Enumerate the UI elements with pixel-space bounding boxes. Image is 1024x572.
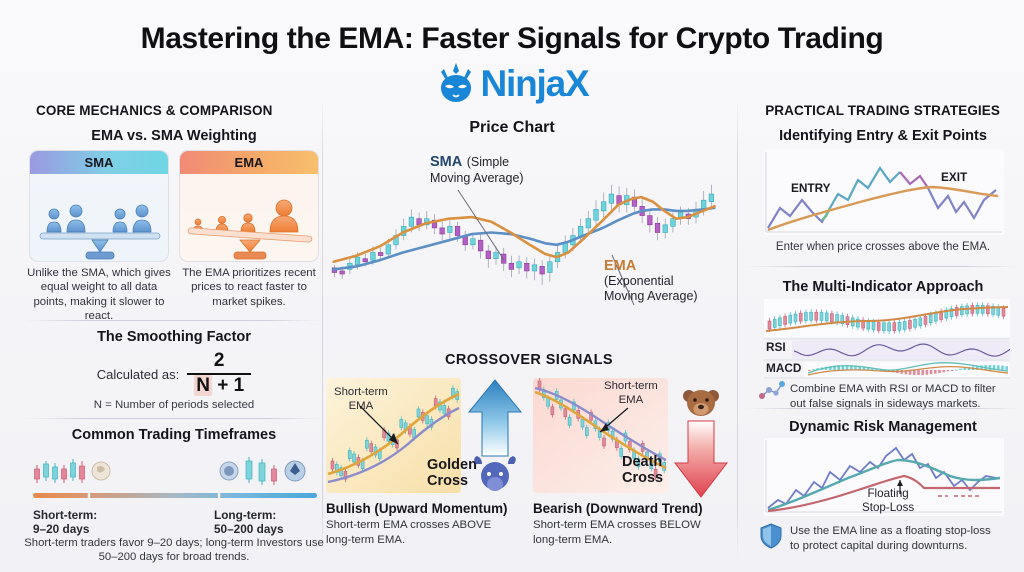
- short-term-candles: [35, 459, 85, 483]
- denominator-rest: + 1: [217, 375, 244, 396]
- sma-card-label: SMA: [30, 151, 168, 174]
- shield-icon: [760, 523, 782, 549]
- risk-title: Dynamic Risk Management: [748, 419, 1018, 435]
- sma-balance-scale-illustration: [30, 174, 169, 262]
- smoothing-formula: Calculated as: 2 N + 1: [29, 351, 319, 397]
- timeframes-section-title: Common Trading Timeframes: [29, 427, 319, 443]
- right-column-heading: PRACTICAL TRADING STRATEGIES: [765, 103, 1000, 118]
- macd-label: MACD: [766, 361, 801, 375]
- fraction: 2 N + 1: [187, 351, 251, 397]
- bearish-body-l2: long-term EMA.: [533, 534, 612, 546]
- timeframe-gradient-bar: [33, 493, 317, 498]
- short-term-title: Short-term:: [33, 508, 97, 522]
- golden-badge-l2: Cross: [427, 473, 468, 489]
- short-term-label: Short-term: 9–20 days: [33, 508, 97, 537]
- bearish-short-ema-label: Short-term EMA: [604, 380, 658, 407]
- arrow-up-icon: [466, 378, 524, 496]
- risk-cap-l2: to protect capital during downturns.: [790, 540, 967, 552]
- candlestick-series: [332, 185, 714, 285]
- timeframes-illustration: [31, 449, 319, 505]
- short-term-value: 9–20 days: [33, 522, 89, 536]
- rsi-label: RSI: [766, 340, 786, 354]
- eth-coin-icon: [285, 461, 305, 481]
- smoothing-note: N = Number of periods selected: [29, 398, 319, 412]
- ema-card-label: EMA: [180, 151, 318, 174]
- column-divider-left: [322, 98, 323, 560]
- bullish-body-l1: Short-term EMA crosses ABOVE: [326, 519, 491, 531]
- denominator-n: N: [194, 375, 212, 396]
- bullish-body-l2: long-term EMA.: [326, 534, 405, 546]
- formula-prefix: Calculated as:: [97, 367, 179, 382]
- risk-cap-l1: Use the EMA line as a floating stop-loss: [790, 525, 991, 537]
- crossover-section-title: CROSSOVER SIGNALS: [326, 352, 732, 368]
- smoothing-section-title: The Smoothing Factor: [29, 329, 319, 345]
- long-term-title: Long-term:: [214, 508, 276, 522]
- long-term-label: Long-term: 50–200 days: [214, 508, 284, 537]
- entry-exit-caption: Enter when price crosses above the EMA.: [748, 240, 1018, 255]
- fraction-numerator: 2: [187, 351, 251, 371]
- bearish-body-l1: Short-term EMA crosses BELOW: [533, 519, 701, 531]
- bullish-se-l1: Short-term: [334, 386, 388, 398]
- sma-caption: Unlike the SMA, which gives equal weight…: [24, 266, 174, 323]
- bearish-body: Short-term EMA crosses BELOW long-term E…: [533, 518, 733, 547]
- brand-logo: NinjaX: [0, 62, 1024, 104]
- multi-indicator-title: The Multi-Indicator Approach: [748, 279, 1018, 295]
- bullish-se-l2: EMA: [349, 400, 374, 412]
- arrow-down-icon: [672, 383, 730, 501]
- long-term-candles: [246, 457, 277, 485]
- page-title: Mastering the EMA: Faster Signals for Cr…: [0, 22, 1024, 56]
- mi-cap-l1: Combine EMA with RSI or MACD to filter: [790, 383, 996, 395]
- entry-label: ENTRY: [791, 181, 831, 195]
- bull-head-icon: [474, 456, 516, 491]
- ninja-mask-icon: [436, 62, 476, 104]
- bear-head-icon: [683, 390, 719, 416]
- ema-balance-scale-illustration: [180, 174, 319, 262]
- entry-exit-title: Identifying Entry & Exit Points: [748, 128, 1018, 144]
- left-column-heading: CORE MECHANICS & COMPARISON: [36, 103, 272, 118]
- right-divider-1: [745, 266, 1021, 267]
- bearish-se-l2: EMA: [619, 394, 644, 406]
- coin-icon-short: [92, 462, 110, 480]
- fsl-l1: Floating: [867, 487, 908, 500]
- bearish-heading: Bearish (Downward Trend): [533, 501, 703, 516]
- column-divider-right: [737, 98, 738, 560]
- bullish-heading: Bullish (Upward Momentum): [326, 501, 508, 516]
- ema-card: EMA: [179, 150, 319, 262]
- connected-dots-icon: [758, 380, 786, 402]
- bearish-se-l1: Short-term: [604, 380, 658, 392]
- fraction-denominator: N + 1: [187, 376, 251, 397]
- floating-stoploss-annotation: Floating Stop-Loss: [862, 487, 914, 515]
- death-cross-badge: Death Cross: [622, 455, 663, 487]
- brand-name: NinjaX: [481, 65, 589, 102]
- long-term-value: 50–200 days: [214, 522, 284, 536]
- risk-caption: Use the EMA line as a floating stop-loss…: [790, 524, 1022, 554]
- left-divider-1: [24, 320, 324, 321]
- exit-label: EXIT: [941, 170, 967, 184]
- timeframes-note: Short-term traders favor 9–20 days; long…: [24, 536, 324, 565]
- fsl-l2: Stop-Loss: [862, 501, 914, 514]
- price-candlestick-chart: [326, 130, 726, 335]
- ema-caption: The EMA prioritizes recent prices to rea…: [174, 266, 324, 309]
- sma-card: SMA: [29, 150, 169, 262]
- coin-icon-long: [220, 462, 238, 480]
- bullish-body: Short-term EMA crosses ABOVE long-term E…: [326, 518, 526, 547]
- death-badge-l2: Cross: [622, 470, 663, 486]
- infographic-root: Mastering the EMA: Faster Signals for Cr…: [0, 0, 1024, 572]
- bullish-short-ema-label: Short-term EMA: [334, 386, 388, 413]
- right-divider-2: [745, 408, 1021, 409]
- left-divider-2: [24, 418, 324, 419]
- death-badge-l1: Death: [622, 454, 662, 470]
